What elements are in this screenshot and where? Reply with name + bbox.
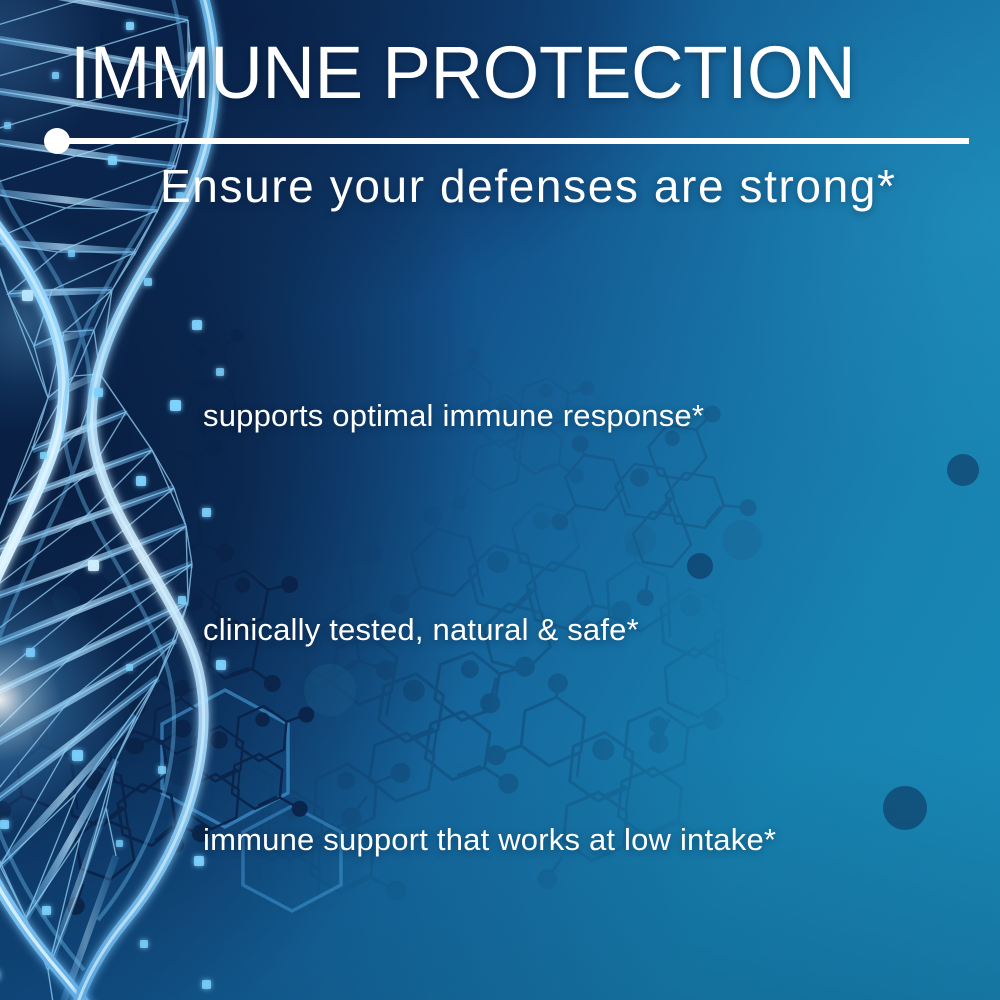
benefit-item-3: immune support that works at low intake* (203, 821, 776, 859)
benefit-item-2: clinically tested, natural & safe* (203, 611, 639, 649)
page-title: IMMUNE PROTECTION (70, 36, 855, 110)
divider (44, 128, 969, 154)
bullet-dot-icon (44, 128, 70, 154)
benefit-item-1: supports optimal immune response* (203, 397, 704, 435)
immune-protection-poster: IMMUNE PROTECTION Ensure your defenses a… (0, 0, 1000, 1000)
page-subtitle: Ensure your defenses are strong* (160, 160, 896, 212)
horizontal-rule-icon (68, 138, 969, 144)
